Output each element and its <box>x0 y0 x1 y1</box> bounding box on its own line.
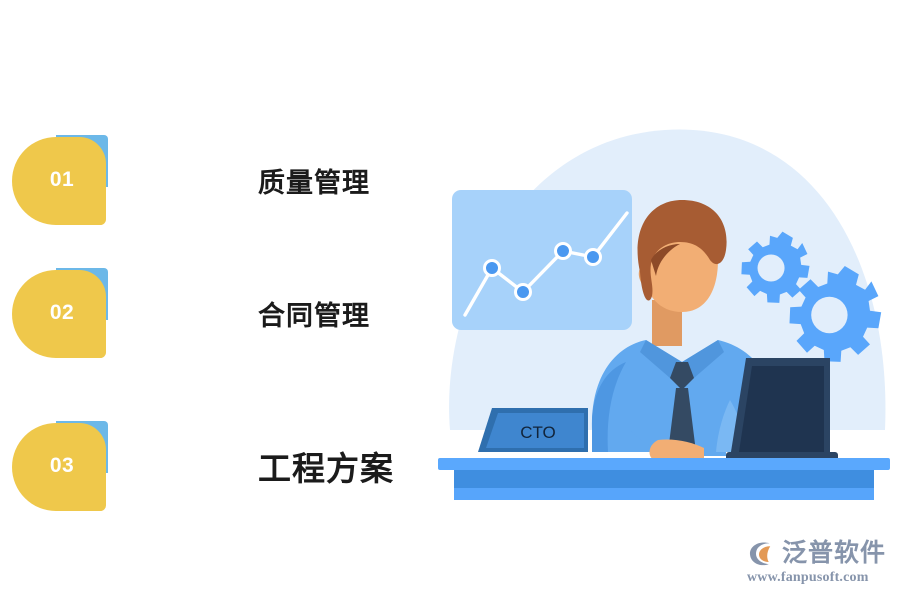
list-item[interactable]: 01 质量管理 <box>0 132 430 228</box>
watermark-url: www.fanpusoft.com <box>747 570 869 586</box>
chart-panel <box>452 190 632 330</box>
badge-number: 03 <box>12 421 106 511</box>
badge-03: 03 <box>12 421 108 511</box>
nameplate-label: CTO <box>520 423 556 442</box>
badge-number: 02 <box>12 268 106 358</box>
numbered-item-list: 01 质量管理 02 合同管理 03 工程方案 <box>0 120 430 520</box>
slide-canvas: 01 质量管理 02 合同管理 03 工程方案 <box>0 0 900 600</box>
list-item[interactable]: 02 合同管理 <box>0 265 430 361</box>
item-label-contract-management: 合同管理 <box>258 294 370 333</box>
watermark-brand: 泛普软件 <box>782 541 886 566</box>
item-label-engineering-plan: 工程方案 <box>258 442 394 490</box>
laptop-screen <box>739 366 824 452</box>
cto-at-desk-illustration: CTO <box>430 100 900 500</box>
badge-02: 02 <box>12 268 108 358</box>
nameplate: CTO <box>478 408 588 452</box>
badge-01: 01 <box>12 135 108 225</box>
item-label-quality-management: 质量管理 <box>258 161 370 200</box>
badge-number: 01 <box>12 135 106 225</box>
watermark-logo: 泛普软件 www.fanpusoft.com <box>747 538 886 586</box>
fanpusoft-logo-icon <box>747 538 777 568</box>
desk <box>438 458 890 500</box>
list-item[interactable]: 03 工程方案 <box>0 418 430 514</box>
